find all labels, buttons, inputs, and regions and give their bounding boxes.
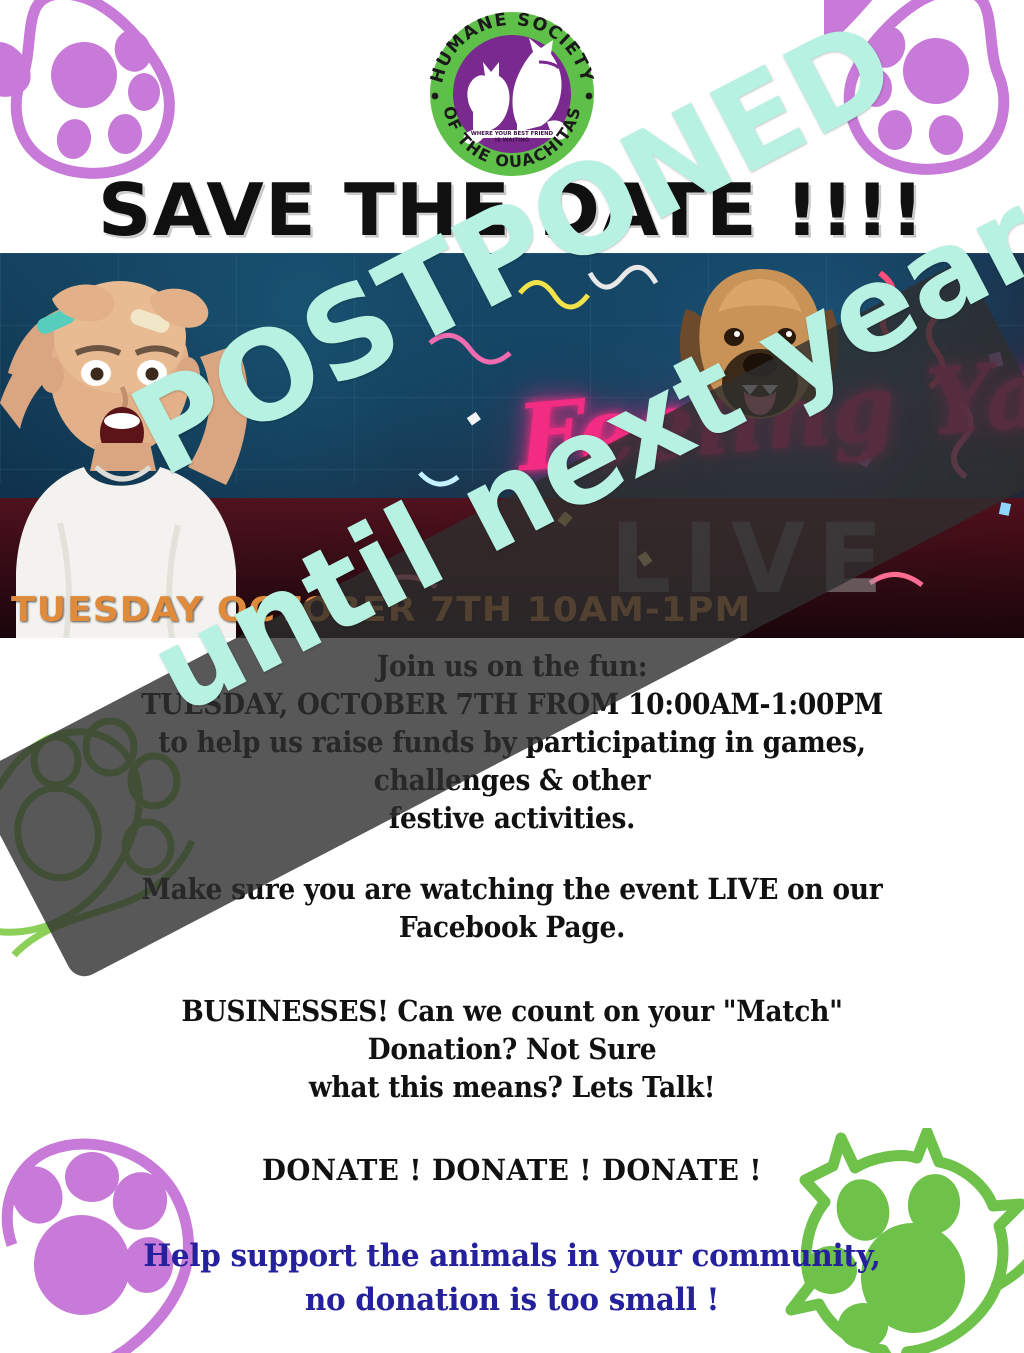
line-closing-2: no donation is too small !	[73, 1279, 951, 1322]
paw-print-icon-top-right	[824, 0, 1024, 193]
line-closing-1: Help support the animals in your communi…	[73, 1235, 951, 1278]
humane-society-logo: WHERE YOUR BEST FRIEND IS WAITING HUMANE…	[421, 4, 603, 184]
headline-container: SAVE THE DATE !!!!	[0, 168, 1024, 252]
line-business-2: what this means? Lets Talk!	[82, 1069, 941, 1107]
line-donate: DONATE ! DONATE ! DONATE !	[73, 1151, 951, 1190]
photo-shocked-man	[0, 253, 355, 638]
logo-tagline-line1: WHERE YOUR BEST FRIEND	[471, 131, 554, 137]
logo-tagline-line2: IS WAITING	[495, 138, 530, 144]
poster-canvas: WHERE YOUR BEST FRIEND IS WAITING HUMANE…	[0, 0, 1024, 1353]
line-business-1: BUSINESSES! Can we count on your "Match"…	[82, 993, 941, 1069]
page-title: SAVE THE DATE !!!!	[98, 168, 926, 252]
